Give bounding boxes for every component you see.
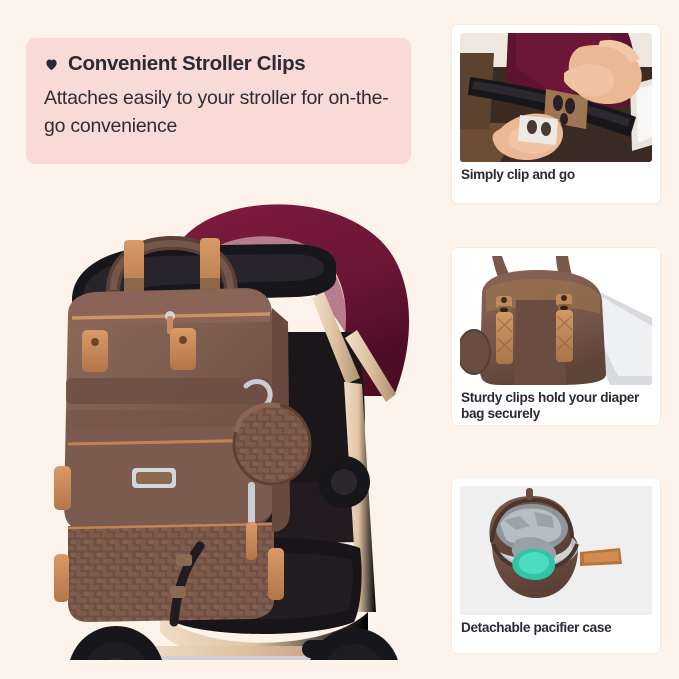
left-column: Convenient Stroller Clips Attaches easil… — [0, 0, 440, 679]
card-caption: Detachable pacifier case — [461, 620, 653, 636]
heart-icon — [44, 57, 59, 72]
callout-heading-row: Convenient Stroller Clips — [44, 52, 391, 76]
card-photo-sturdy-clips — [460, 256, 652, 385]
feature-card[interactable]: Detachable pacifier case — [452, 478, 660, 653]
card-caption: Simply clip and go — [461, 167, 653, 183]
right-column: Simply clip and go — [452, 0, 660, 679]
feature-callout: Convenient Stroller Clips Attaches easil… — [26, 38, 411, 164]
feature-card[interactable]: Simply clip and go — [452, 25, 660, 203]
card-caption: Sturdy clips hold your diaper bag secure… — [461, 390, 653, 422]
card-photo-simply-clip-and-go — [460, 33, 652, 162]
callout-heading: Convenient Stroller Clips — [68, 52, 305, 76]
card-photo-pacifier-case — [460, 486, 652, 615]
callout-subtext: Attaches easily to your stroller for on-… — [44, 85, 391, 140]
feature-card[interactable]: Sturdy clips hold your diaper bag secure… — [452, 248, 660, 425]
hero-product-photo — [24, 182, 434, 660]
